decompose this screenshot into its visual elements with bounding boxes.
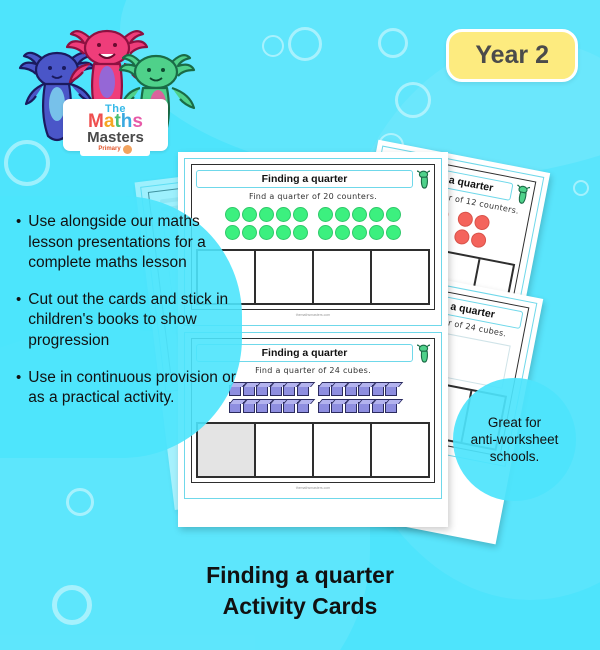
answer-box[interactable] <box>198 424 256 476</box>
page-title-line-1: Finding a quarter <box>0 560 600 591</box>
cube-item <box>385 402 397 413</box>
cube-item <box>372 385 384 396</box>
cube-item <box>270 402 282 413</box>
counter-item <box>276 207 291 222</box>
bullet-marker-icon: • <box>16 290 21 352</box>
bullet-text: Cut out the cards and stick in children'… <box>28 290 246 352</box>
counter-item <box>335 225 350 240</box>
cube-item <box>345 385 357 396</box>
publisher-badge: Primary <box>80 142 150 156</box>
cube-item <box>283 385 295 396</box>
counter-item <box>469 231 487 249</box>
counter-item <box>386 207 401 222</box>
counter-row <box>225 225 401 240</box>
badge-line-1: Great for <box>471 414 559 431</box>
cube-item <box>372 402 384 413</box>
answer-box[interactable] <box>256 251 314 303</box>
answer-box[interactable] <box>314 424 372 476</box>
brand-logo: The Maths Masters Primary <box>18 14 188 154</box>
answer-box[interactable] <box>372 424 428 476</box>
cube-item <box>256 385 268 396</box>
card-subtitle: Find a quarter of 20 counters. <box>196 192 430 201</box>
cube-item <box>358 385 370 396</box>
bubble-ring-icon <box>395 82 431 118</box>
counter-item <box>456 210 474 228</box>
bullet-marker-icon: • <box>16 368 21 409</box>
counter-item <box>386 225 401 240</box>
counter-item <box>293 207 308 222</box>
answer-box[interactable] <box>372 251 428 303</box>
cube-row <box>229 385 397 396</box>
page-title-line-2: Activity Cards <box>0 591 600 622</box>
cube-item <box>318 402 330 413</box>
publisher-name: Primary <box>98 146 120 152</box>
bubble-ring-icon <box>288 27 322 61</box>
answer-box[interactable] <box>314 251 372 303</box>
cube-item <box>331 402 343 413</box>
list-item: • Use in continuous provision or as a pr… <box>16 368 246 409</box>
counter-row <box>225 207 401 222</box>
cube-item <box>270 385 282 396</box>
cube-item <box>297 385 309 396</box>
counter-item <box>335 207 350 222</box>
cube-item <box>318 385 330 396</box>
cube-row <box>229 402 397 413</box>
card-title-row: Finding a quarter <box>196 169 430 189</box>
badge-line-3: schools. <box>471 448 559 465</box>
counter-item <box>318 207 333 222</box>
list-item: • Cut out the cards and stick in childre… <box>16 290 246 352</box>
counter-item <box>352 207 367 222</box>
counter-item <box>293 225 308 240</box>
bullet-text: Use in continuous provision or as a prac… <box>28 368 246 409</box>
bubble-ring-icon <box>66 488 94 516</box>
bullet-marker-icon: • <box>16 212 21 274</box>
counter-item <box>352 225 367 240</box>
card-footer: themathsmasters.com <box>191 486 435 490</box>
counter-item <box>276 225 291 240</box>
cube-item <box>283 402 295 413</box>
axolotl-mini-icon <box>417 169 430 189</box>
anti-worksheet-badge: Great for anti-worksheet schools. <box>453 378 576 501</box>
answer-boxes <box>196 422 430 478</box>
counter-item <box>473 214 491 232</box>
counter-item <box>369 225 384 240</box>
list-item: • Use alongside our maths lesson present… <box>16 212 246 274</box>
bubble-ring-icon <box>378 28 408 58</box>
bubble-ring-icon <box>262 35 284 57</box>
year-badge: Year 2 <box>446 29 578 82</box>
counter-item <box>369 207 384 222</box>
bullet-text: Use alongside our maths lesson presentat… <box>28 212 246 274</box>
counter-item <box>453 228 471 246</box>
cube-item <box>358 402 370 413</box>
publisher-avatar-icon <box>123 145 132 154</box>
cube-item <box>331 385 343 396</box>
bubble-ring-icon <box>573 180 589 196</box>
answer-box[interactable] <box>256 424 314 476</box>
cube-item <box>385 385 397 396</box>
counter-item <box>259 207 274 222</box>
cube-item <box>297 402 309 413</box>
badge-line-2: anti-worksheet <box>471 431 559 448</box>
counter-item <box>318 225 333 240</box>
page-title: Finding a quarter Activity Cards <box>0 560 600 622</box>
cube-item <box>345 402 357 413</box>
cube-item <box>256 402 268 413</box>
axolotl-mini-icon <box>514 183 531 205</box>
feature-bullet-list: • Use alongside our maths lesson present… <box>16 212 246 425</box>
card-title: Finding a quarter <box>196 170 413 188</box>
axolotl-mini-icon <box>417 343 430 363</box>
counter-item <box>259 225 274 240</box>
